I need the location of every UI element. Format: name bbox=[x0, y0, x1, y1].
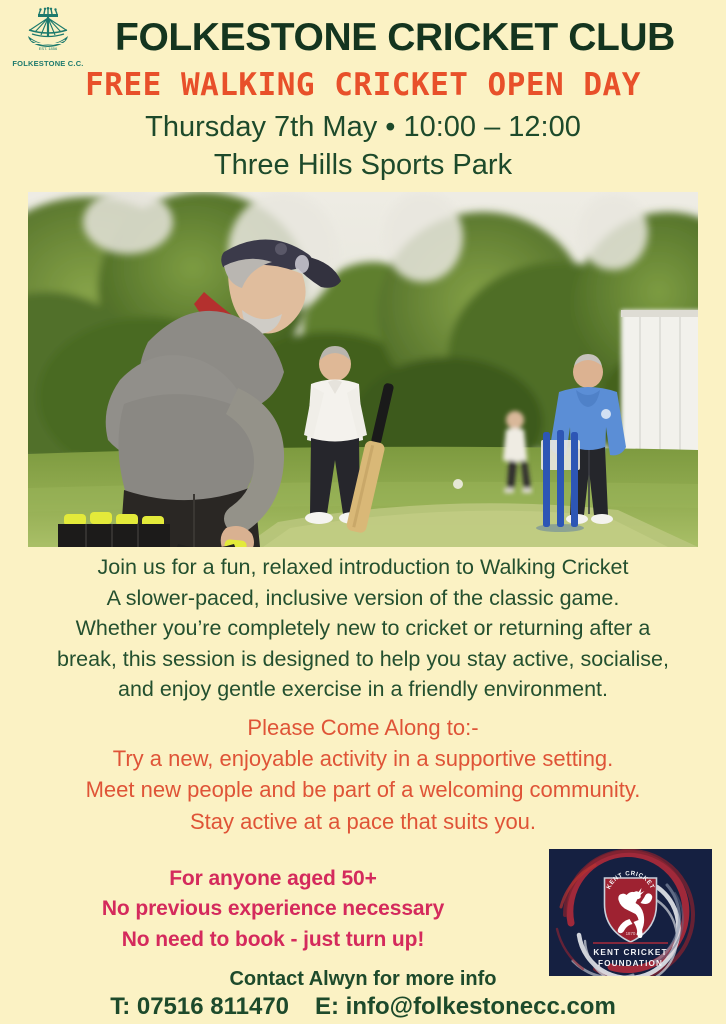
folkestone-cc-logo: EST. 1856 FOLKESTONE C.C. bbox=[6, 6, 90, 68]
photo-illustration: Crystals bbox=[28, 192, 698, 547]
intro-paragraph: Join us for a fun, relaxed introduction … bbox=[14, 552, 712, 705]
intro-line-3: Whether you’re completely new to cricket… bbox=[14, 613, 712, 644]
intro-line-2: A slower-paced, inclusive version of the… bbox=[14, 583, 712, 614]
folkestone-cc-crest-icon: EST. 1856 bbox=[20, 6, 76, 56]
event-datetime: Thursday 7th May • 10:00 – 12:00 bbox=[0, 110, 726, 145]
eligibility-line-3: No need to book - just turn up! bbox=[18, 925, 528, 955]
come-along-block: Please Come Along to:- Try a new, enjoya… bbox=[14, 712, 712, 837]
svg-text:KENT CRICKET: KENT CRICKET bbox=[593, 948, 667, 957]
eligibility-line-1: For anyone aged 50+ bbox=[18, 864, 528, 894]
kent-cricket-foundation-logo: KENT CRICKET 1870 KENT CRICKET FOUNDATIO… bbox=[549, 849, 712, 976]
poster-root: EST. 1856 FOLKESTONE C.C. FOLKESTONE CRI… bbox=[0, 0, 726, 1024]
kent-foundation-logo-icon: KENT CRICKET 1870 KENT CRICKET FOUNDATIO… bbox=[549, 849, 712, 976]
club-title: FOLKESTONE CRICKET CLUB bbox=[90, 18, 726, 57]
contact-phone[interactable]: T: 07516 811470 bbox=[110, 993, 289, 1020]
contact-email[interactable]: E: info@folkestonecc.com bbox=[315, 993, 616, 1020]
come-along-line-1: Try a new, enjoyable activity in a suppo… bbox=[14, 743, 712, 774]
contact-heading: Contact Alwyn for more info bbox=[0, 967, 726, 991]
contact-details: T: 07516 811470E: info@folkestonecc.com bbox=[0, 993, 726, 1022]
come-along-heading: Please Come Along to:- bbox=[14, 712, 712, 743]
eligibility-line-2: No previous experience necessary bbox=[18, 894, 528, 924]
folkestone-cc-logo-caption: FOLKESTONE C.C. bbox=[6, 59, 90, 68]
intro-line-1: Join us for a fun, relaxed introduction … bbox=[14, 552, 712, 583]
walking-cricket-photo: Crystals bbox=[28, 192, 698, 547]
intro-line-4: break, this session is designed to help … bbox=[14, 644, 712, 675]
event-venue: Three Hills Sports Park bbox=[0, 148, 726, 183]
svg-text:1870: 1870 bbox=[626, 931, 636, 936]
poster-header: EST. 1856 FOLKESTONE C.C. FOLKESTONE CRI… bbox=[0, 6, 726, 68]
intro-line-5: and enjoy gentle exercise in a friendly … bbox=[14, 674, 712, 705]
come-along-line-2: Meet new people and be part of a welcomi… bbox=[14, 774, 712, 805]
come-along-line-3: Stay active at a pace that suits you. bbox=[14, 806, 712, 837]
open-day-headline: FREE WALKING CRICKET OPEN DAY bbox=[0, 70, 726, 101]
eligibility-block: For anyone aged 50+ No previous experien… bbox=[18, 864, 528, 955]
svg-text:EST. 1856: EST. 1856 bbox=[39, 46, 58, 51]
